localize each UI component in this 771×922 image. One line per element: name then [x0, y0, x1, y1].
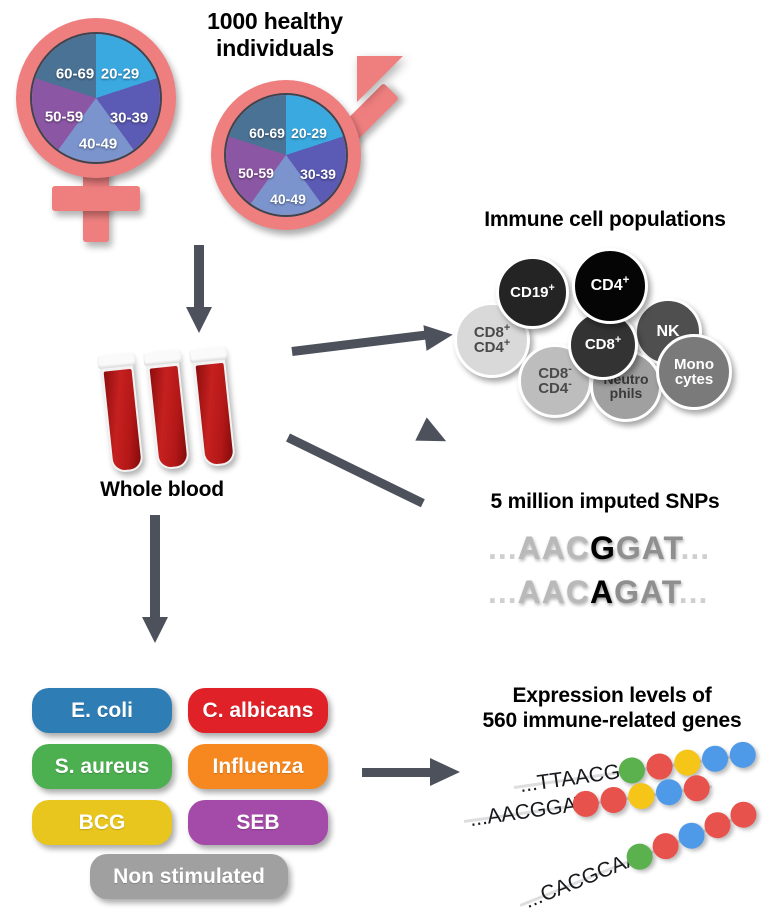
strand-bead [654, 778, 683, 807]
immune-cell-cd4p: CD4+ [572, 248, 648, 324]
strand-sequence: ...AACGGAT [468, 792, 589, 832]
figure-title-line-1: 1000 healthy [175, 8, 375, 35]
stimulus-non-stimulated[interactable]: Non stimulated [90, 854, 288, 899]
arrow-shaft [286, 433, 425, 507]
snp-ellipsis-right: ... [681, 530, 711, 566]
tube-blood [196, 363, 234, 465]
stimulus-label: E. coli [71, 699, 133, 723]
whole-blood-label: Whole blood [72, 478, 252, 503]
snp-suffix: GAT [616, 530, 681, 566]
arrow-down-cohort-to-blood [186, 245, 212, 335]
figure-title-line-2: individuals [175, 35, 375, 62]
stimulus-label: BCG [79, 811, 126, 835]
arrow-head-icon [142, 617, 168, 643]
stimulus-label: SEB [236, 811, 279, 835]
arrow-shaft [291, 330, 433, 356]
female-slice-label-30-39: 30-39 [110, 110, 148, 127]
male-symbol: 20-29 30-39 40-49 50-59 60-69 [205, 60, 420, 245]
snp-prefix: AAC [518, 574, 590, 610]
imputed-snps-title: 5 million imputed SNPs [450, 490, 760, 515]
blood-tube [146, 350, 190, 471]
strand-bead [627, 781, 656, 810]
strand-bead [700, 744, 729, 773]
tube-blood [104, 369, 142, 471]
snp-variant-base: G [590, 530, 616, 566]
stimulus-label: S. aureus [55, 755, 150, 779]
stimulus-label: Non stimulated [113, 865, 265, 889]
snp-prefix: AAC [518, 530, 590, 566]
stimulus-s-aureus[interactable]: S. aureus [32, 744, 172, 789]
immune-cell-monocytes: Mono cytes [656, 334, 732, 410]
strand-bead [727, 798, 761, 832]
stimulus-label: C. albicans [203, 699, 314, 723]
expression-title-line-1: Expression levels of [462, 684, 762, 709]
snp-suffix: GAT [614, 574, 679, 610]
male-slice-label-30-39: 30-39 [300, 166, 336, 182]
immune-cell-label-line-1: CD8- [538, 366, 572, 381]
immune-cell-label: CD4+ [591, 278, 630, 294]
expression-title-line-2: 560 immune-related genes [462, 709, 762, 734]
male-slice-label-50-59: 50-59 [238, 165, 274, 181]
immune-cell-label-line-1: Mono [674, 357, 714, 372]
arrow-head-icon [186, 307, 212, 333]
strand-bead [599, 785, 628, 814]
female-symbol: 20-29 30-39 40-49 50-59 60-69 [8, 10, 193, 240]
male-slice-label-60-69: 60-69 [249, 125, 285, 141]
stimulus-c-albicans[interactable]: C. albicans [188, 688, 328, 733]
immune-cell-label-line-2: phils [610, 386, 643, 400]
immune-cell-label-line-2: CD4+ [474, 340, 510, 355]
arrow-head-icon [415, 417, 452, 453]
snp-ellipsis-left: ... [488, 574, 518, 610]
arrow-shaft [194, 245, 204, 311]
stimulus-seb[interactable]: SEB [188, 800, 328, 845]
female-symbol-crossbar [52, 186, 140, 211]
immune-cell-label: CD8+ [585, 337, 621, 352]
immune-cell-label-line-2: CD4- [538, 381, 572, 396]
stimulus-label: Influenza [212, 755, 303, 779]
female-age-pie: 20-29 30-39 40-49 50-59 60-69 [30, 32, 162, 164]
whole-blood-sample [100, 340, 300, 500]
immune-cell-label-line-2: cytes [675, 372, 713, 387]
strand-bead [728, 740, 757, 769]
arrow-down-blood-to-stimuli [140, 515, 170, 655]
stimulus-bcg[interactable]: BCG [32, 800, 172, 845]
figure-title: 1000 healthy individuals [175, 8, 375, 62]
blood-tube [192, 347, 236, 468]
immune-cell-populations-title: Immune cell populations [450, 208, 760, 233]
immune-cell-cluster: CD8+ CD4+ CD19+ CD4+ CD8+ NK CD8- CD4- N… [450, 240, 760, 425]
arrow-blood-to-snps [288, 425, 468, 545]
female-slice-label-40-49: 40-49 [79, 136, 117, 153]
strand-sequence: ...CACGCAA [521, 846, 643, 914]
immune-cell-label: CD19+ [510, 285, 555, 300]
arrow-blood-to-immune [292, 325, 464, 373]
snp-sequence-row-1: ...AACGGAT... [488, 530, 710, 567]
male-slice-label-40-49: 40-49 [270, 191, 306, 207]
female-slice-label-50-59: 50-59 [45, 109, 83, 126]
male-slice-label-20-29: 20-29 [291, 125, 327, 141]
immune-cell-cd19p: CD19+ [496, 256, 569, 329]
female-slice-label-60-69: 60-69 [56, 66, 94, 83]
snp-ellipsis-left: ... [488, 530, 518, 566]
arrow-head-icon [430, 758, 460, 786]
blood-tube [100, 353, 144, 474]
expression-levels-title: Expression levels of 560 immune-related … [462, 684, 762, 734]
strand-bead [682, 774, 711, 803]
snp-sequence-row-2: ...AACAGAT... [488, 574, 708, 611]
male-age-pie: 20-29 30-39 40-49 50-59 60-69 [224, 93, 348, 217]
tube-blood [150, 366, 188, 468]
snp-ellipsis-right: ... [679, 574, 709, 610]
stimulus-influenza[interactable]: Influenza [188, 744, 328, 789]
male-symbol-arrowhead [357, 56, 403, 102]
female-slice-label-20-29: 20-29 [101, 66, 139, 83]
arrow-stimuli-to-expression [362, 758, 472, 790]
arrow-shaft [362, 768, 434, 777]
snp-variant-base: A [590, 574, 614, 610]
arrow-shaft [150, 515, 160, 623]
stimulus-e-coli[interactable]: E. coli [32, 688, 172, 733]
